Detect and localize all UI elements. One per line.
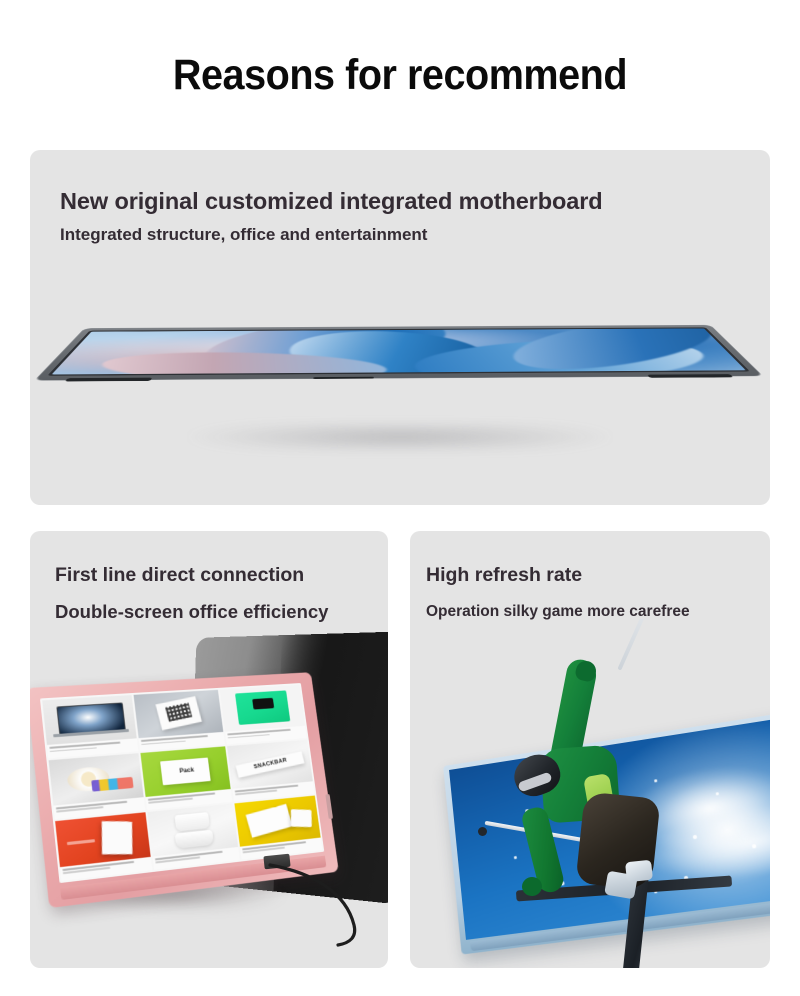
card-motherboard-subtitle: Integrated structure, office and enterta… (60, 225, 427, 245)
qr-code-card-thumb (133, 690, 223, 739)
laptop-mockup-thumb (42, 695, 137, 745)
grid-cell-caption (53, 797, 145, 819)
grid-cell-green-pouch (219, 685, 306, 745)
monitor-screen-grid (40, 683, 324, 883)
ski-pole-upper (617, 619, 670, 671)
flat-monitor-device (35, 325, 762, 380)
pack-paper-bag-thumb (140, 746, 231, 797)
grid-cell-red-poster (55, 812, 153, 881)
usb-c-plug (263, 854, 290, 870)
card-direct-connection[interactable]: First line direct connection Double-scre… (30, 531, 388, 968)
card-refresh-rate-heading: High refresh rate (426, 564, 582, 587)
grid-cell-yellow-card (234, 795, 322, 859)
pink-monitor-device (30, 672, 339, 908)
grid-cell-caption (47, 739, 139, 759)
portable-monitor-flat-lay-image (30, 270, 770, 505)
grid-cell-snackbar-label (227, 740, 315, 802)
monitor-port (314, 377, 375, 379)
snackbar-label-thumb (227, 740, 313, 789)
grid-cell-sticker-roll (49, 753, 146, 819)
skier-bursting-from-screen-image (410, 619, 770, 968)
sticker-roll-thumb (49, 753, 144, 806)
green-pouch-thumb (219, 685, 305, 732)
grid-cell-laptop-mockup (42, 695, 138, 759)
device-shadow (100, 425, 700, 449)
yellow-card-thumb (234, 795, 321, 847)
skier-figure (502, 625, 692, 955)
ski-pole-tip (478, 827, 487, 836)
skier-boot (625, 860, 653, 883)
card-direct-connection-heading: First line direct connection (55, 564, 304, 587)
card-motherboard[interactable]: New original customized integrated mothe… (30, 150, 770, 505)
card-direct-connection-subtitle: Double-screen office efficiency (55, 601, 328, 623)
grid-cell-pack-paper-bag (140, 746, 232, 810)
card-refresh-rate[interactable]: High refresh rate Operation silky game m… (410, 531, 770, 968)
page-title: Reasons for recommend (32, 0, 768, 99)
monitor-screen-wallpaper (52, 328, 746, 374)
card-motherboard-heading: New original customized integrated mothe… (60, 188, 603, 215)
pink-portable-monitor-image (30, 627, 388, 968)
